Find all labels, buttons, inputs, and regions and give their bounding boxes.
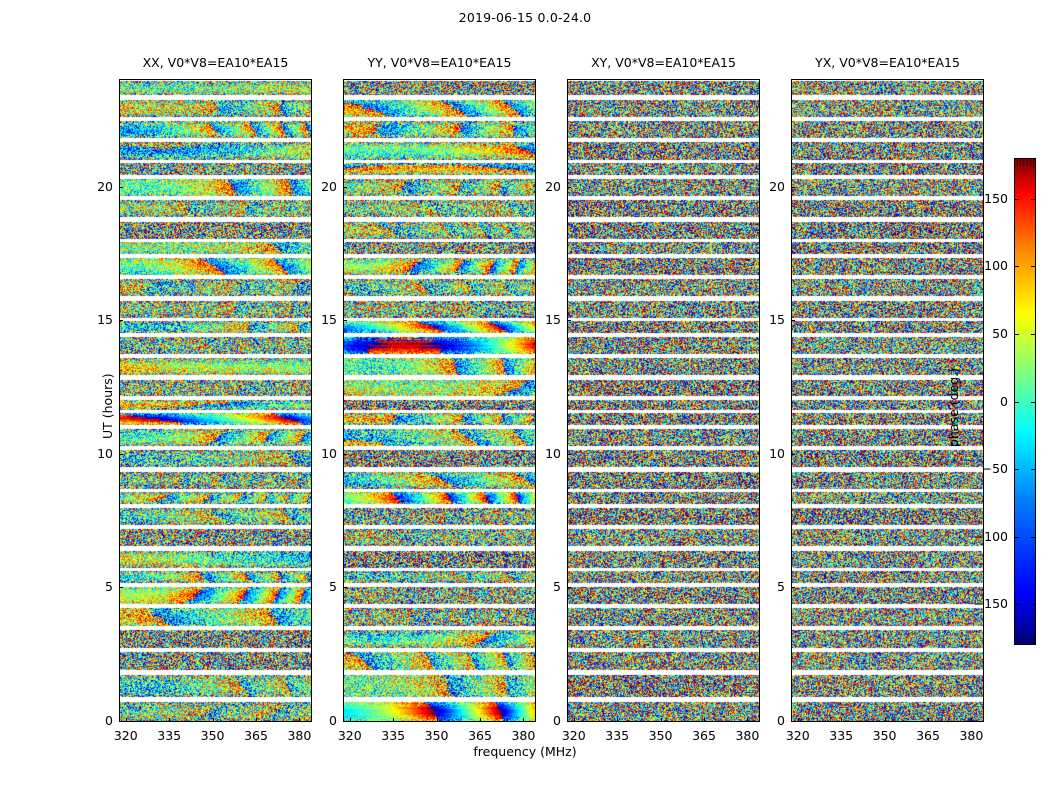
colorbar-tick-mark <box>1014 402 1019 403</box>
colorbar-tick-mark <box>1031 469 1036 470</box>
colorbar-tick-mark <box>1031 199 1036 200</box>
colorbar-tick-mark <box>1031 402 1036 403</box>
colorbar-tick-label: 100 <box>952 258 1008 273</box>
colorbar-tick-mark <box>1031 537 1036 538</box>
colorbar-extend-top-icon: |||||| <box>1014 159 1036 167</box>
colorbar-tick-mark <box>1014 266 1019 267</box>
colorbar-group: |||||| |||||| −150−100−50050100150 phase… <box>0 0 1050 800</box>
colorbar-tick-mark <box>1031 334 1036 335</box>
figure-canvas: 2019-06-15 0.0-24.0 XX, V0*V8=EA10*EA153… <box>0 0 1050 800</box>
colorbar-tick-mark <box>1031 266 1036 267</box>
colorbar-tick-label: 50 <box>952 326 1008 341</box>
colorbar-tick-mark <box>1031 604 1036 605</box>
colorbar-tick-label: −150 <box>952 596 1008 611</box>
colorbar-tick-mark <box>1014 334 1019 335</box>
colorbar-tick-label: −100 <box>952 529 1008 544</box>
colorbar-extend-bottom-icon: |||||| <box>1014 635 1036 643</box>
colorbar-tick-mark <box>1014 537 1019 538</box>
colorbar-axis-label: phase (deg.) <box>946 368 961 447</box>
colorbar-tick-label: −50 <box>952 461 1008 476</box>
colorbar-tick-mark <box>1014 469 1019 470</box>
colorbar-tick-mark <box>1014 604 1019 605</box>
colorbar-tick-mark <box>1014 199 1019 200</box>
colorbar-tick-label: 150 <box>952 191 1008 206</box>
